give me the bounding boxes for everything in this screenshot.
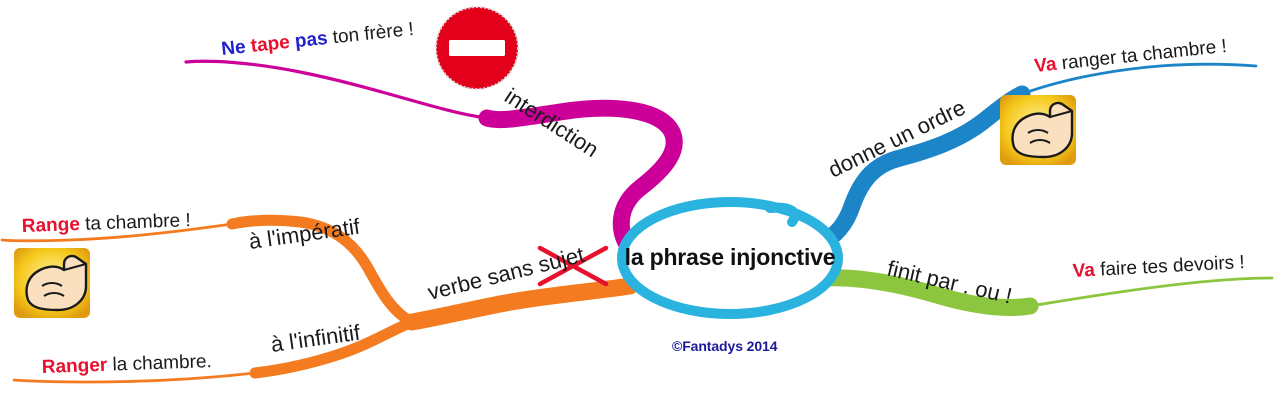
leaf-word-ton-frere: ton frère ! — [332, 19, 415, 48]
center-node[interactable]: la phrase injonctive — [622, 202, 838, 314]
copyright-notice: ©Fantadys 2014 — [672, 338, 777, 354]
leaf-va-faire-tes-devoirs: Va faire tes devoirs ! — [1072, 252, 1245, 282]
center-node-title: la phrase injonctive — [622, 202, 838, 314]
caption-sujet-part: sujet — [536, 242, 587, 278]
leaf-word-tape: tape — [250, 31, 296, 57]
mindmap-canvas: interdiction donne un ordre finit par . … — [0, 0, 1280, 407]
center-title-text: la phrase injonctive — [625, 244, 836, 271]
leaf-word-va-2: Va — [1072, 260, 1101, 282]
leaf-word-ne: Ne — [220, 36, 252, 60]
leaf-va-ranger-ta-chambre: Va ranger ta chambre ! — [1033, 36, 1227, 77]
branch-path-finit-par-thin — [1030, 278, 1272, 306]
leaf-word-faire-tes-devoirs: faire tes devoirs ! — [1100, 252, 1246, 281]
pointing-hand-icon-right — [1000, 95, 1076, 165]
no-entry-sign-icon — [436, 7, 518, 89]
leaf-ranger-la-chambre: Ranger la chambre. — [41, 351, 212, 378]
leaf-word-pas: pas — [294, 27, 334, 52]
leaf-ne-tape-pas: Ne tape pas ton frère ! — [220, 19, 414, 60]
pointing-hand-icon-left — [14, 248, 90, 318]
leaf-word-ranger: Ranger — [41, 355, 112, 378]
leaf-word-la-chambre: la chambre. — [112, 351, 212, 375]
leaf-word-range: Range — [21, 214, 85, 237]
leaf-word-ta-chambre: ta chambre ! — [85, 210, 191, 235]
leaf-word-va-1: Va — [1033, 53, 1063, 77]
